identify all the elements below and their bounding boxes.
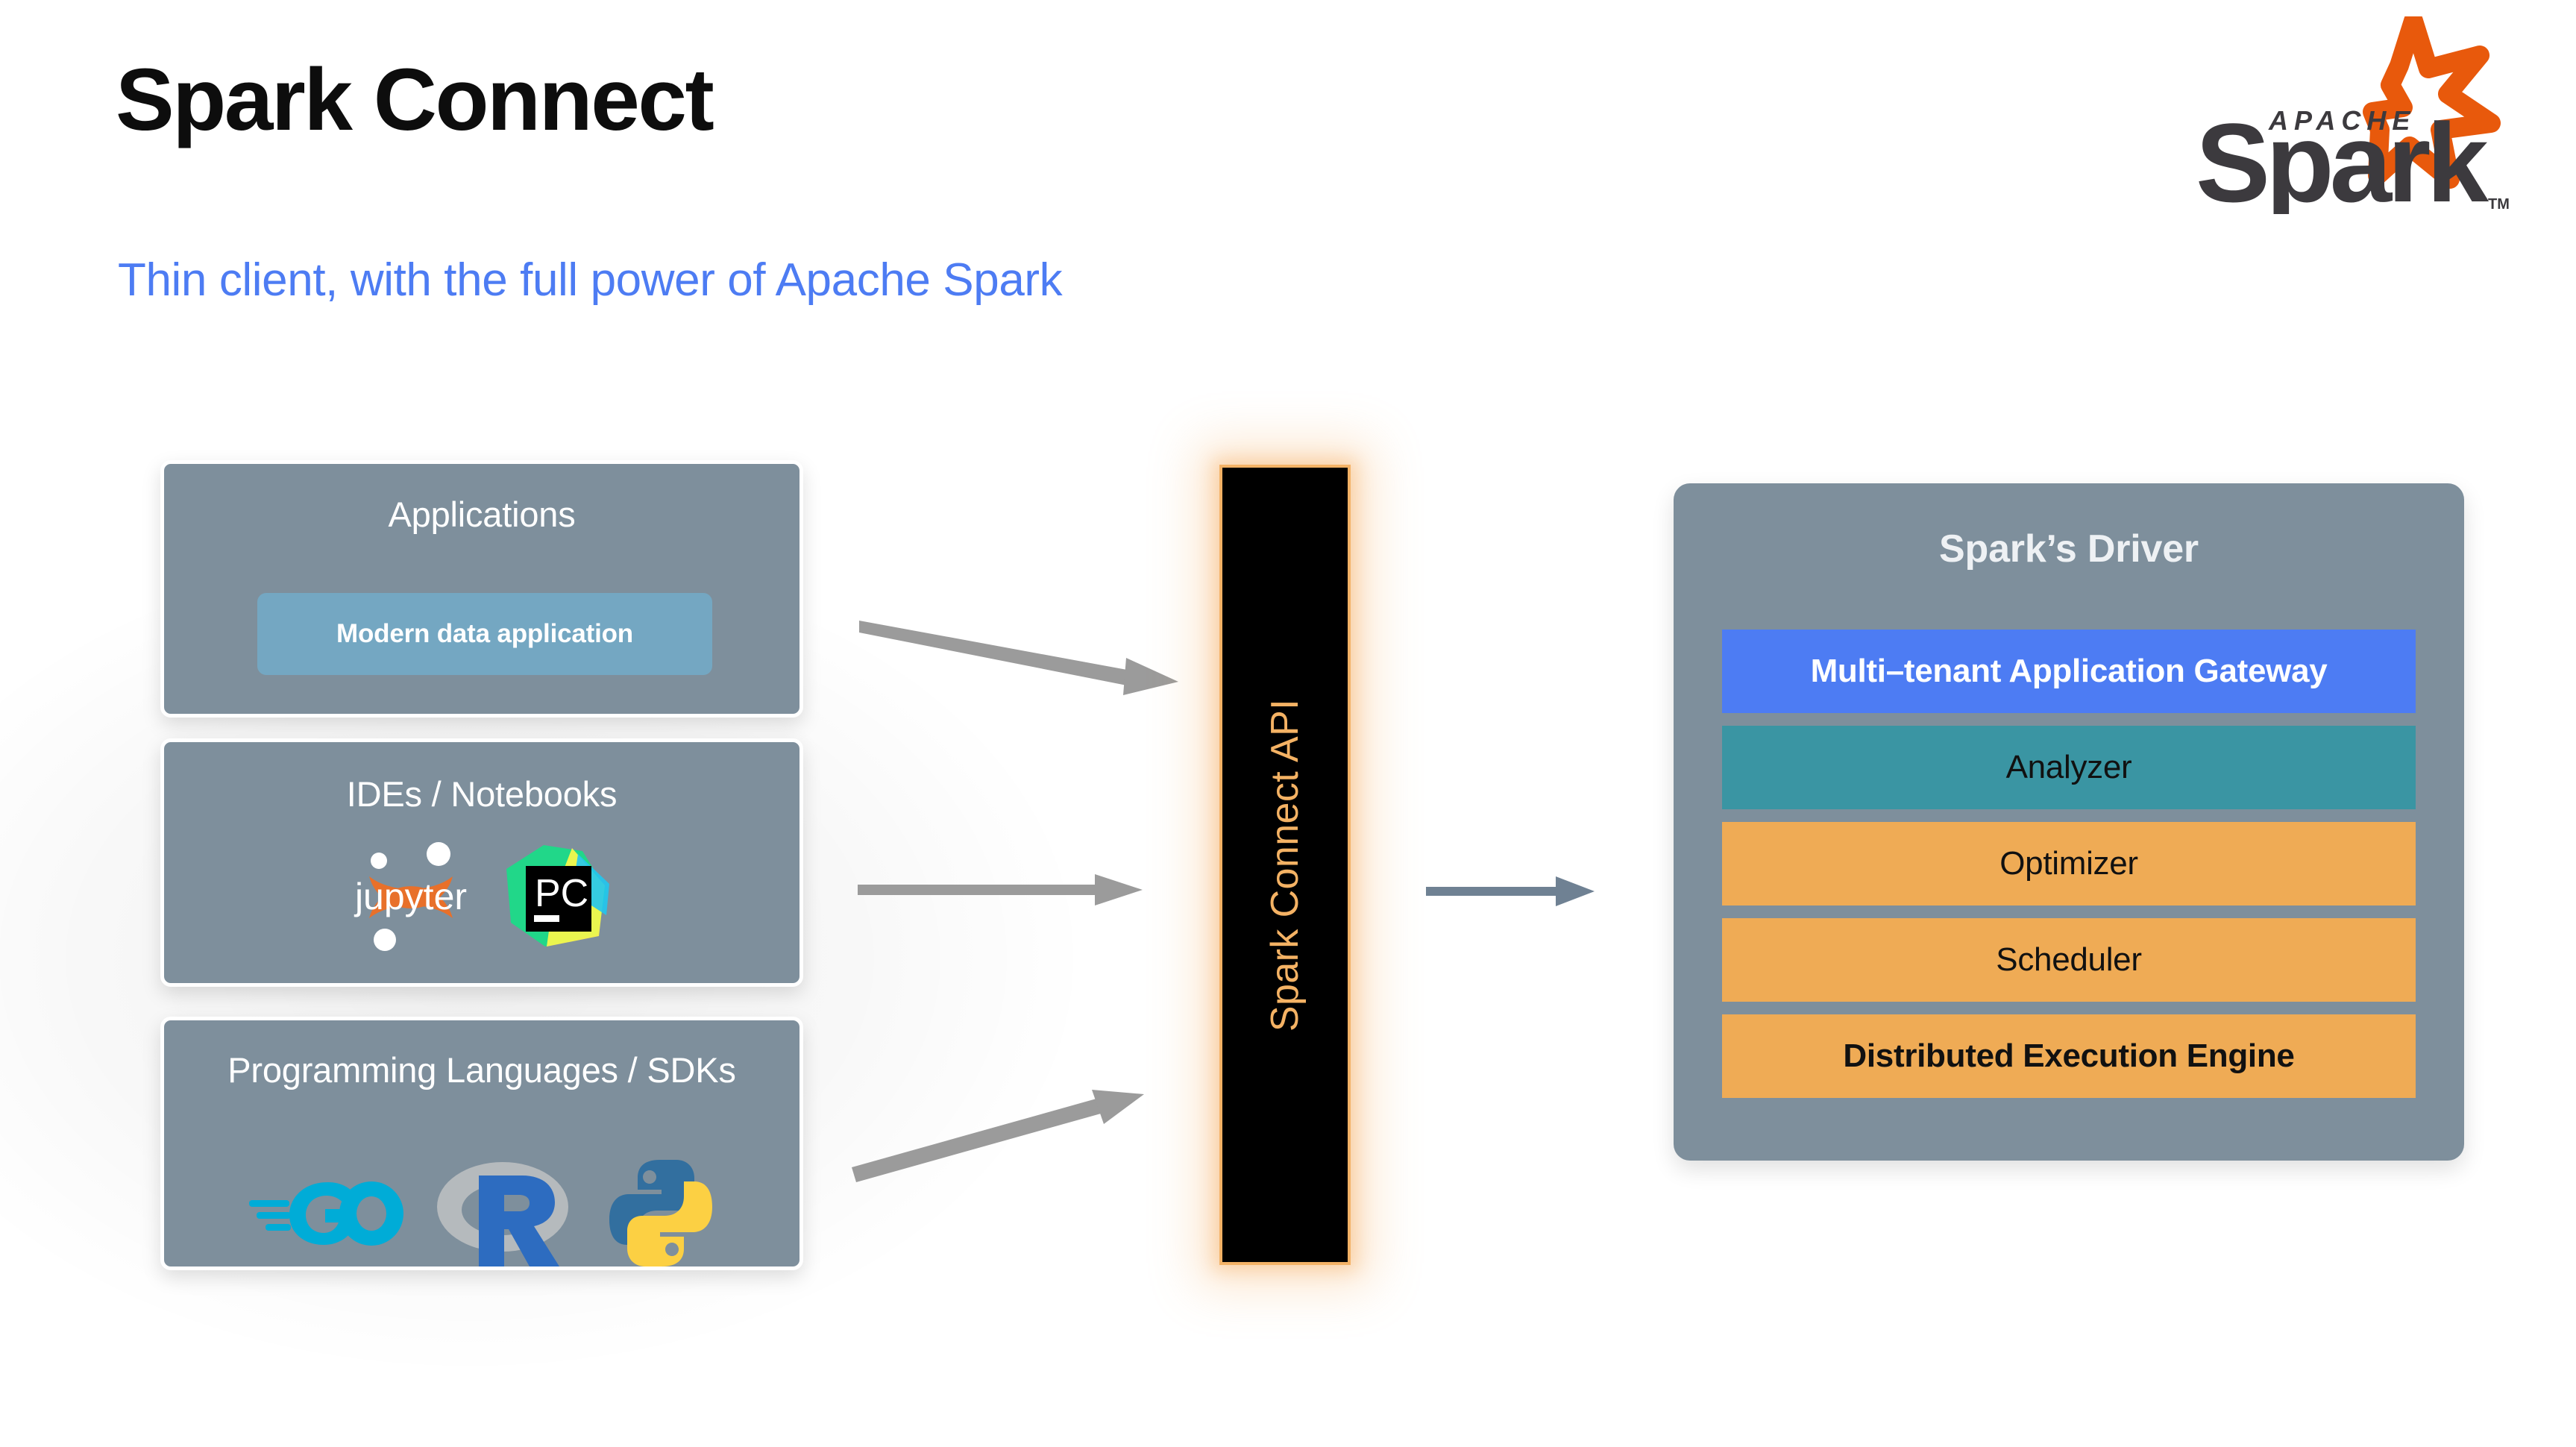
arrow-languages-to-api [850,1040,1201,1197]
card-spark-driver[interactable]: Spark’s Driver Multi–tenant Application … [1674,483,2464,1161]
svg-text:PC: PC [535,872,588,915]
pycharm-logo: PC [500,841,612,956]
card-programming-languages-sdks[interactable]: Programming Languages / SDKs [160,1017,803,1270]
arrow-applications-to-api [858,589,1201,746]
r-logo [436,1153,574,1276]
python-logo [605,1155,717,1275]
driver-layer[interactable]: Scheduler [1722,918,2416,1002]
driver-layer[interactable]: Analyzer [1722,726,2416,809]
driver-layer[interactable]: Multi–tenant Application Gateway [1722,630,2416,713]
arrow-api-to-driver [1380,843,1648,940]
languages-logo-row [164,1153,799,1276]
spark-connect-api-label: Spark Connect API [1263,698,1307,1031]
card-ides-title: IDEs / Notebooks [164,773,799,814]
ides-logo-row: jupyter PC [164,841,799,956]
card-applications-title: Applications [164,494,799,535]
driver-layer-list: Multi–tenant Application GatewayAnalyzer… [1722,630,2416,1098]
svg-text:jupyter: jupyter [354,876,467,917]
card-ides-notebooks[interactable]: IDEs / Notebooks jupyter PC [160,738,803,987]
card-languages-title: Programming Languages / SDKs [164,1049,799,1092]
page-subtitle: Thin client, with the full power of Apac… [118,257,1062,304]
page-title: Spark Connect [116,56,712,144]
modern-data-application-chip[interactable]: Modern data application [257,593,712,675]
driver-layer[interactable]: Optimizer [1722,822,2416,905]
card-applications[interactable]: Applications Modern data application [160,460,803,718]
spark-driver-title: Spark’s Driver [1674,527,2464,571]
arrow-ides-to-api [858,843,1201,962]
svg-text:TM: TM [2488,196,2510,213]
spark-connect-api-bar[interactable]: Spark Connect API [1219,465,1351,1265]
driver-layer[interactable]: Distributed Execution Engine [1722,1014,2416,1098]
jupyter-logo: jupyter [351,841,471,956]
apache-spark-logo: APACHE Spark TM [2151,16,2524,214]
go-logo [248,1172,404,1258]
svg-text:Spark: Spark [2196,100,2489,214]
